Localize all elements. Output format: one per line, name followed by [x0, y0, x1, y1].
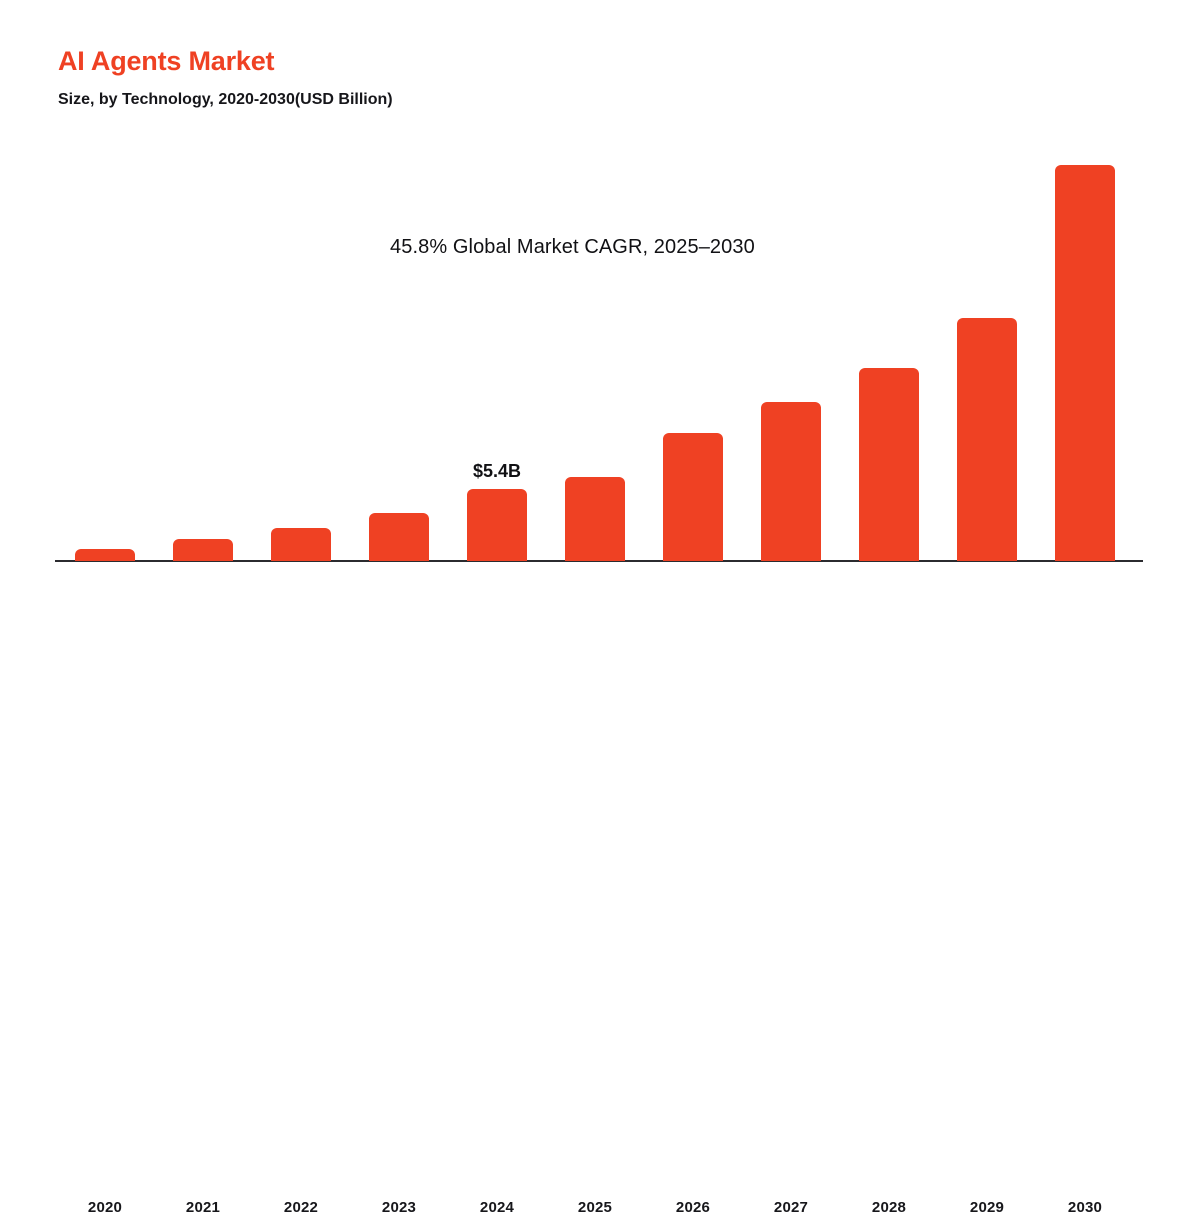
- bar-2022[interactable]: [271, 528, 331, 561]
- tick-label-2023: 2023: [369, 1199, 429, 1216]
- bar-2026[interactable]: [663, 433, 723, 561]
- plot-area: 45.8% Global Market CAGR, 2025–2030 2020…: [0, 0, 1200, 628]
- bar-2020[interactable]: [75, 549, 135, 561]
- bar-2027[interactable]: [761, 402, 821, 561]
- tick-label-2026: 2026: [663, 1199, 723, 1216]
- bar-2024[interactable]: [467, 489, 527, 561]
- tick-label-2020: 2020: [75, 1199, 135, 1216]
- bar-value-label-2024: $5.4B: [467, 461, 527, 482]
- bar-2029[interactable]: [957, 318, 1017, 561]
- tick-label-2024: 2024: [467, 1199, 527, 1216]
- tick-label-2029: 2029: [957, 1199, 1017, 1216]
- bar-series: 2020 2021 2022 2023 $5.4B 2024: [0, 0, 1200, 628]
- tick-label-2030: 2030: [1055, 1199, 1115, 1216]
- tick-label-2028: 2028: [859, 1199, 919, 1216]
- chart-figure: AI Agents Market Size, by Technology, 20…: [0, 0, 1200, 628]
- tick-label-2027: 2027: [761, 1199, 821, 1216]
- tick-label-2022: 2022: [271, 1199, 331, 1216]
- tick-label-2021: 2021: [173, 1199, 233, 1216]
- bar-2021[interactable]: [173, 539, 233, 561]
- tick-label-2025: 2025: [565, 1199, 625, 1216]
- bar-2025[interactable]: [565, 477, 625, 561]
- bar-2030[interactable]: [1055, 165, 1115, 561]
- bar-2023[interactable]: [369, 513, 429, 561]
- bar-2028[interactable]: [859, 368, 919, 561]
